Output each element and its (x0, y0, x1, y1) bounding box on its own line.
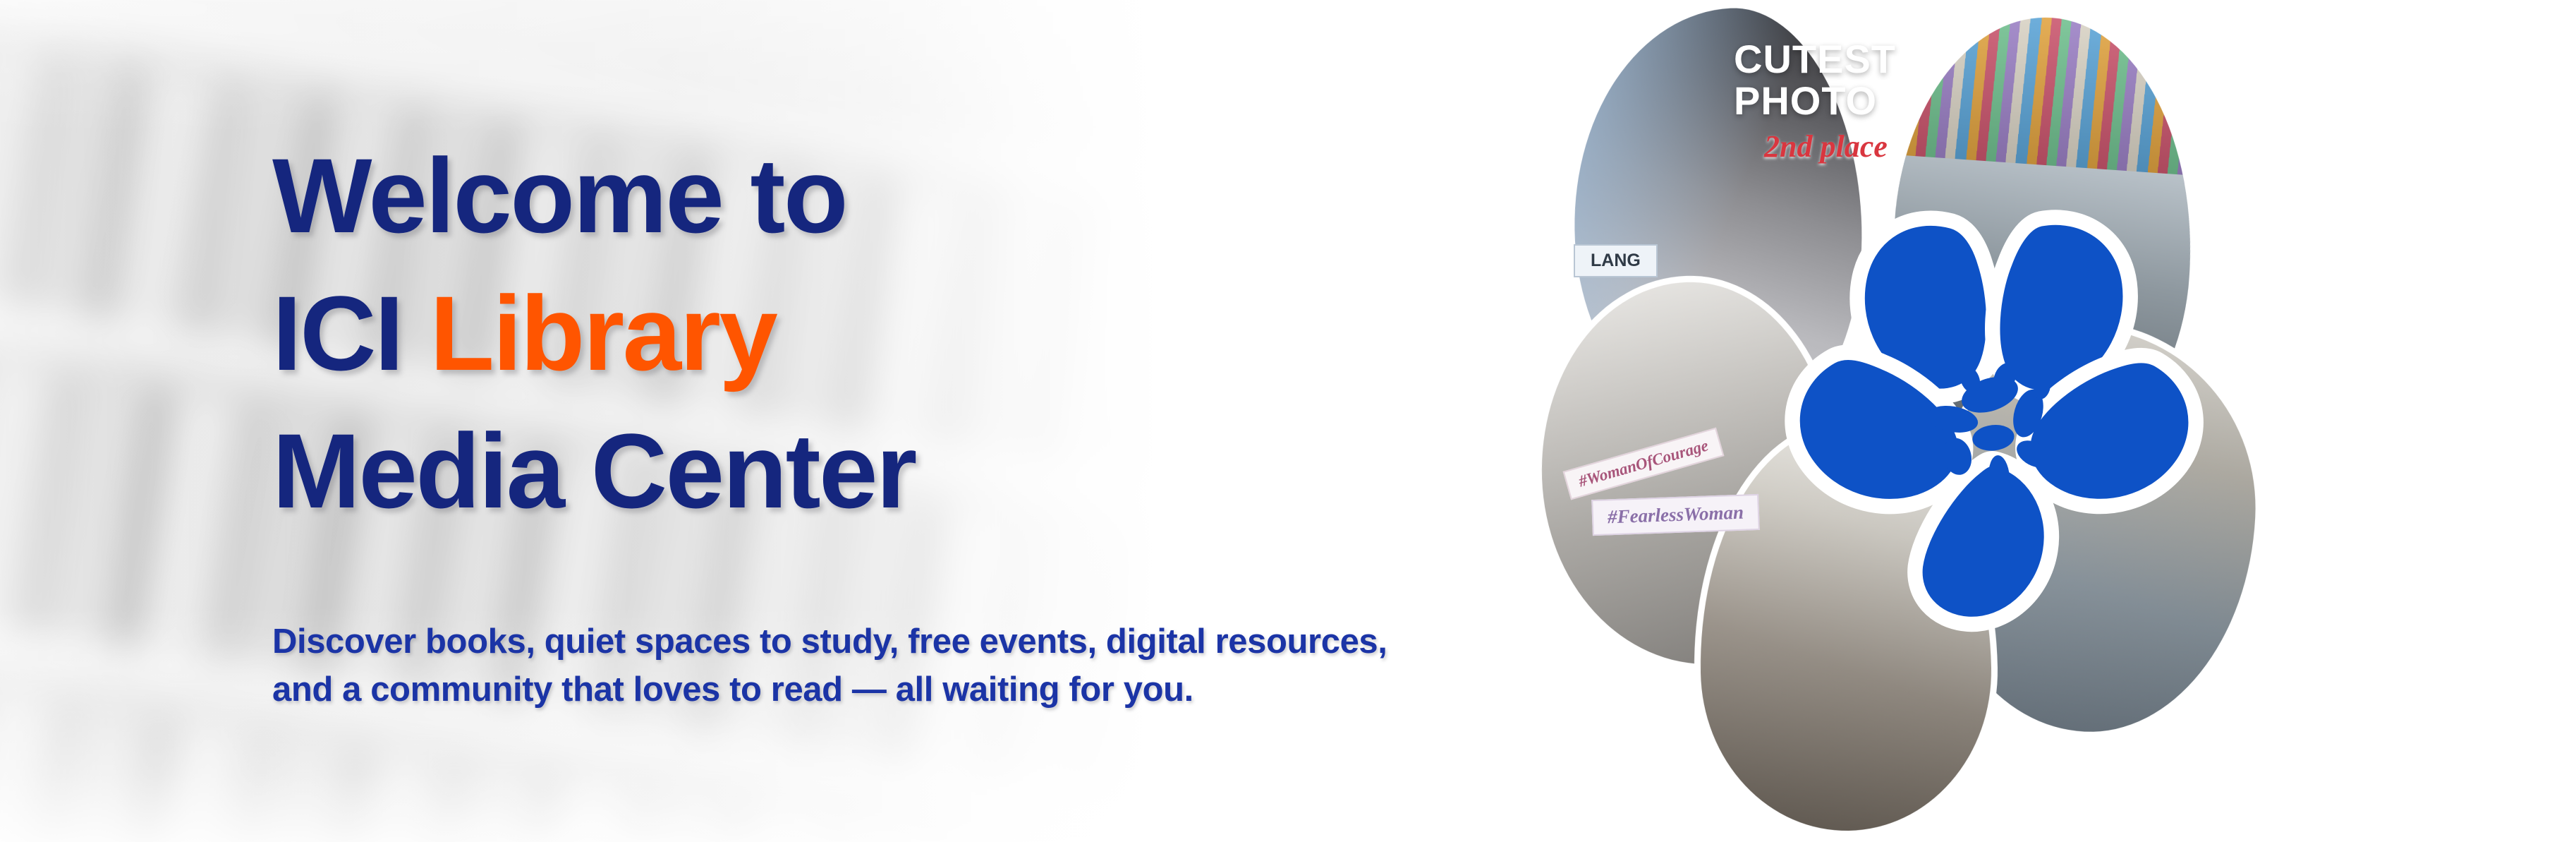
headline-line-welcome: Welcome to (272, 127, 1507, 265)
headline-line-ici-library: ICI Library (272, 265, 1507, 402)
subtitle-line-2: and a community that loves to read — all… (272, 666, 1514, 714)
hero-subtitle: Discover books, quiet spaces to study, f… (272, 618, 1514, 714)
flower-logo (1757, 179, 2223, 645)
subtitle-line-1: Discover books, quiet spaces to study, f… (272, 618, 1514, 666)
headline-library-accent: Library (430, 274, 776, 392)
headline-ici: ICI (272, 274, 430, 392)
headline-line-media-center: Media Center (272, 402, 1507, 540)
library-hero-banner: Welcome to ICI Library Media Center Disc… (0, 0, 2576, 842)
page-title: Welcome to ICI Library Media Center (272, 127, 1507, 540)
photo-flower-collage: CUTEST PHOTO 2nd place LANG #WomanOfCour… (1562, 0, 2409, 842)
flower-petals-group (1792, 217, 2196, 624)
